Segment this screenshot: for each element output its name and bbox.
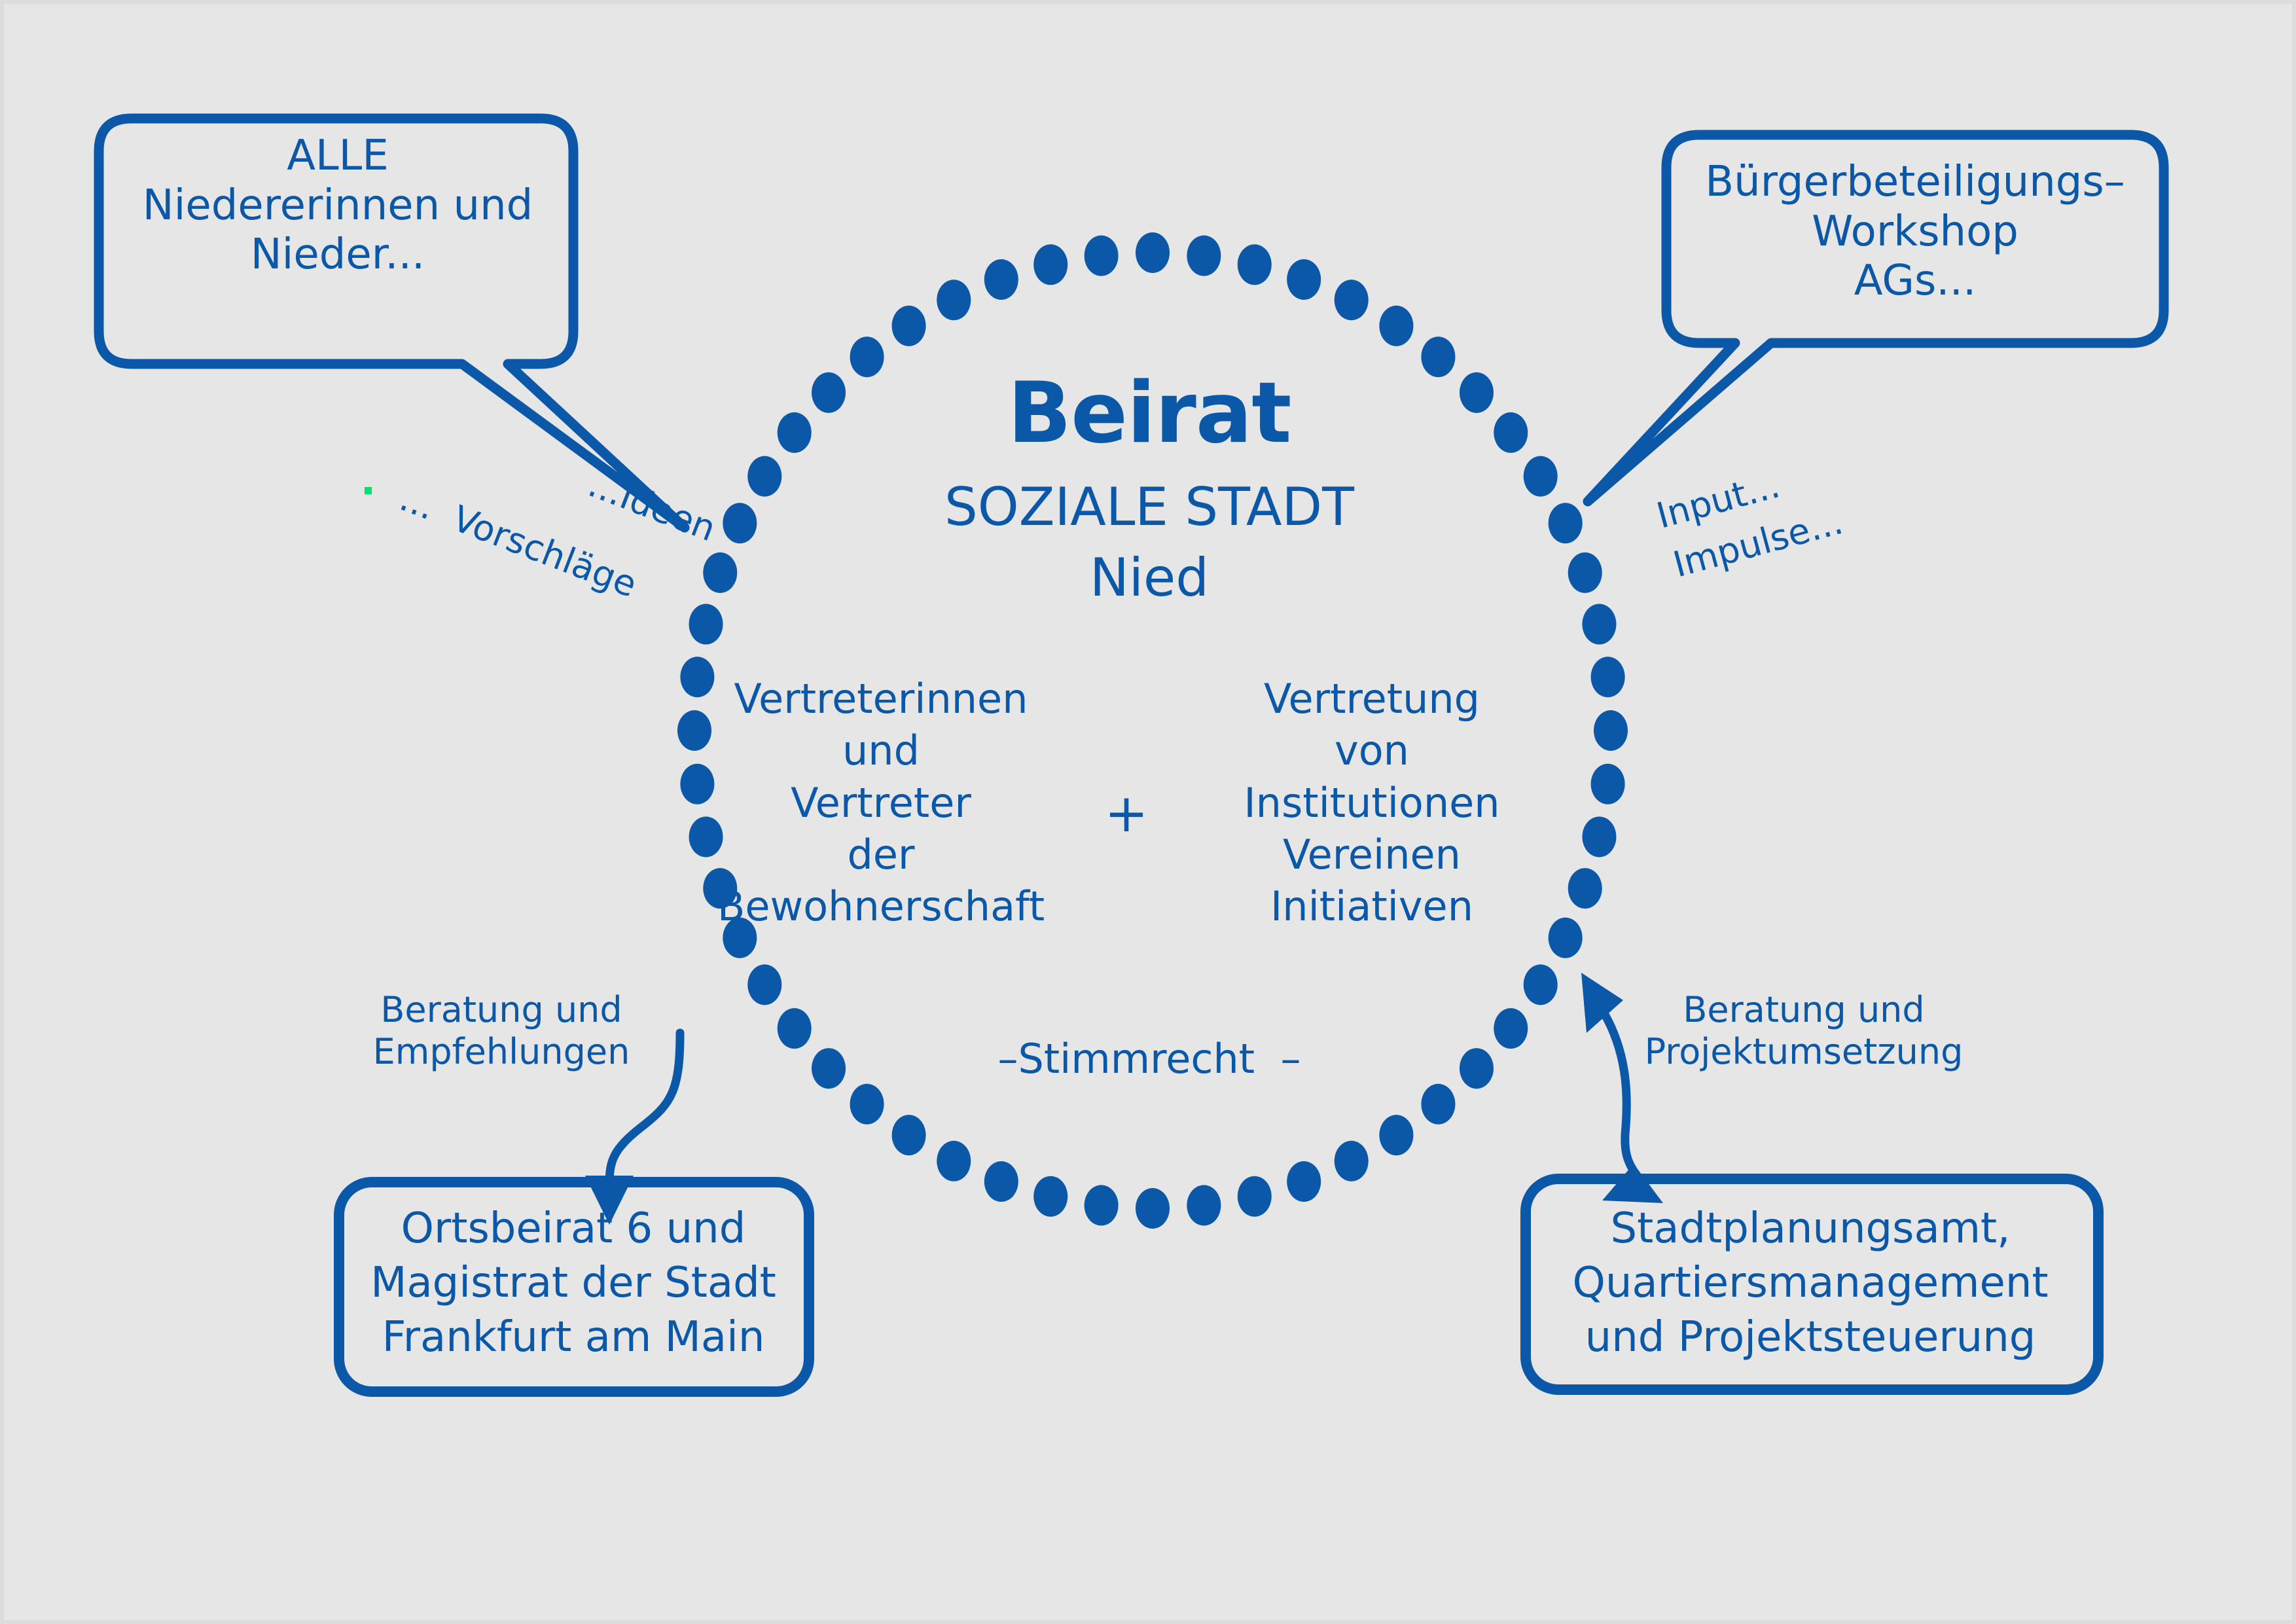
circle-dot [1085,236,1119,276]
arrow-left-label: Beratung und Empfehlungen [344,989,658,1072]
circle-dot [1591,764,1625,804]
circle-dot [1033,244,1067,285]
circle-dot [1136,1188,1170,1229]
circle-dot [1568,868,1602,909]
circle-dot [778,412,812,453]
circle-dot [703,552,737,593]
circle-dot [892,306,926,346]
circle-dot [747,456,781,497]
circle-dot [1568,552,1602,593]
circle-dot [723,503,757,543]
voting-rights-note: –Stimmrecht – [822,1035,1477,1083]
circle-dot [1594,710,1628,751]
box-right-label: Stadtplanungsamt, Quartiersmanagement un… [1529,1202,2092,1365]
circle-dot [1582,816,1616,857]
circle-dot [689,604,723,645]
circle-dot [778,1008,812,1049]
circle-dot [1379,306,1413,346]
circle-dot [1136,232,1170,273]
circle-dot [984,1161,1018,1202]
circle-dot [1287,259,1321,300]
circle-dot [1238,1176,1272,1217]
circle-dot [892,1115,926,1155]
circle-dot [1187,1185,1221,1225]
circle-dot [937,1141,971,1182]
circle-dot [1549,503,1583,543]
circle-dot [1379,1115,1413,1155]
bubble-right-label: Bürgerbeteiligungs– Workshop AGs... [1686,158,2144,306]
circle-dot [1187,236,1221,276]
circle-dot [1524,964,1558,1005]
circle-dot [1287,1161,1321,1202]
circle-dot [850,1084,884,1125]
page-subtitle-line1: SOZIALE STADT [822,477,1477,538]
circle-dot [1335,280,1369,320]
box-left-label: Ortsbeirat 6 und Magistrat der Stadt Fra… [344,1202,802,1365]
circle-dot [1494,1008,1528,1049]
circle-dot [1085,1185,1119,1225]
circle-dot [1033,1176,1067,1217]
members-column-institutions: Vertretung von Institutionen Vereinen In… [1189,673,1555,933]
bubble-left-label: ALLE Niedererinnen und Nieder... [102,132,573,280]
circle-dot [1238,244,1272,285]
circle-dot [1591,657,1625,697]
circle-dot [747,964,781,1005]
circle-dot [1421,1084,1455,1125]
circle-dot [1524,456,1558,497]
diagram-canvas: ALLE Niedererinnen und Nieder... Bürgerb… [0,0,2296,1624]
page-title: Beirat [822,364,1477,463]
members-column-residents: Vertreterinnen und Vertreter der Bewohne… [698,673,1064,933]
circle-dot [937,280,971,320]
circle-dot [1335,1141,1369,1182]
circle-dot [984,259,1018,300]
arrow-right-label: Beratung und Projektumsetzung [1634,989,1974,1072]
circle-dot [1582,604,1616,645]
plus-icon: + [1064,783,1189,844]
page-subtitle-line2: Nied [822,547,1477,609]
circle-dot [1494,412,1528,453]
